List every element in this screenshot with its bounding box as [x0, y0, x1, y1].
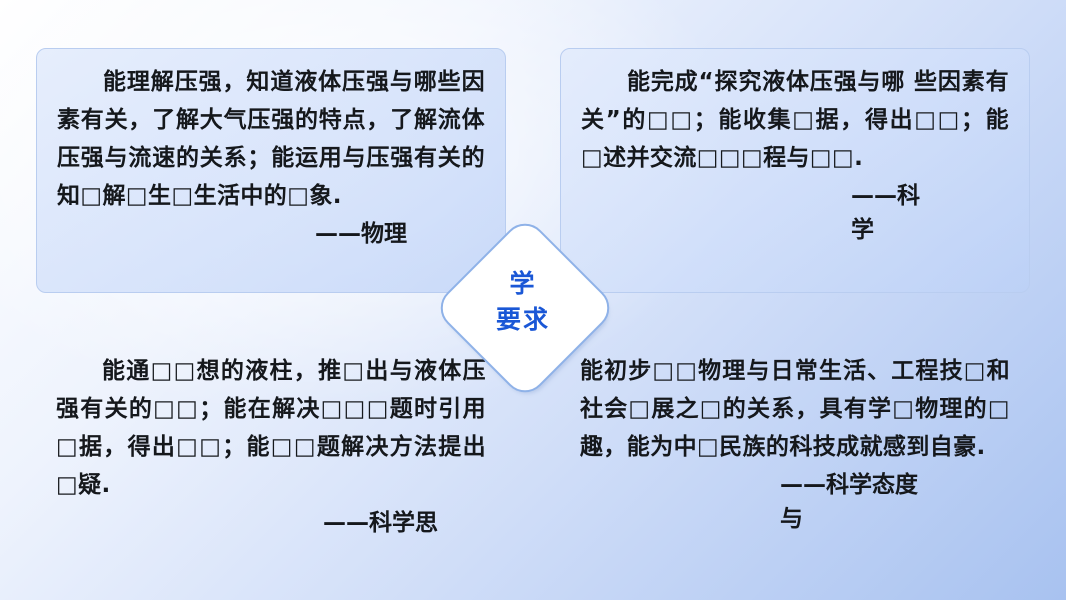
diamond-label: 学 要求 [433, 266, 613, 338]
quadrant-top-left-source: ——物理 [57, 217, 485, 251]
quadrant-bottom-right-source: ——科学态度与 [580, 468, 1010, 536]
quadrant-bottom-left-text: 能通□□想的液柱，推□出与液体压强有关的□□；能在解决□□□题时引用□据，得出□… [56, 352, 486, 504]
quadrant-bottom-right: 能初步□□物理与日常生活、工程技□和社会□展之□的关系，具有学□物理的□趣，能为… [560, 330, 1030, 565]
quadrant-bottom-right-text: 能初步□□物理与日常生活、工程技□和社会□展之□的关系，具有学□物理的□趣，能为… [580, 352, 1010, 466]
quadrant-top-right: 能完成“探究液体压强与哪 些因素有关”的□□；能收集□据，得出□□；能□述并交流… [560, 48, 1030, 293]
diamond-label-line1: 学 [433, 266, 613, 302]
quadrant-top-right-text: 能完成“探究液体压强与哪 些因素有关”的□□；能收集□据，得出□□；能□述并交流… [581, 63, 1009, 177]
quadrant-top-right-source: ——科学 [581, 179, 1009, 247]
slide-canvas: 能理解压强，知道液体压强与哪些因素有关，了解大气压强的特点，了解流体压强与流速的… [0, 0, 1066, 600]
quadrant-bottom-left-source: ——科学思 [56, 506, 486, 540]
diamond-label-line2: 要求 [433, 302, 613, 338]
quadrant-top-left-text: 能理解压强，知道液体压强与哪些因素有关，了解大气压强的特点，了解流体压强与流速的… [57, 63, 485, 215]
center-diamond-badge: 学 要求 [433, 232, 613, 382]
